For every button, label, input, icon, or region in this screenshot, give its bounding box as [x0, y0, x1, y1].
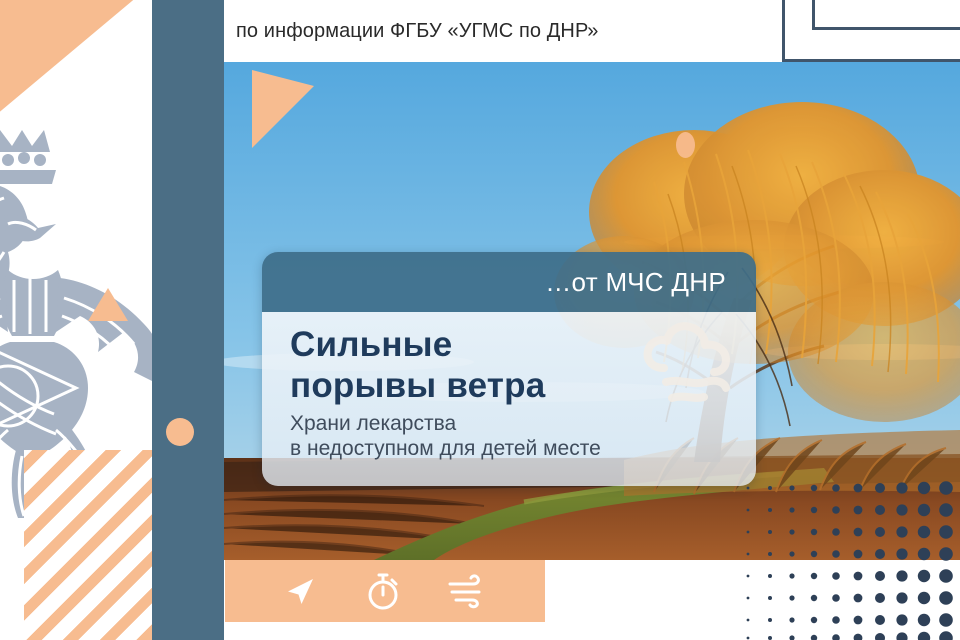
issuer-label: …от МЧС ДНР: [545, 267, 726, 298]
source-attribution-text: по информации ФГБУ «УГМС по ДНР»: [236, 20, 599, 43]
emblem-orange-triangle: [88, 288, 128, 321]
safety-advice: Храни лекарства в недоступном для детей …: [290, 411, 756, 461]
safety-advice-line2: в недоступном для детей месте: [290, 436, 756, 461]
slate-vertical-bar: [152, 0, 224, 640]
corner-frame-inner: [812, 0, 960, 30]
poster-canvas: по информации ФГБУ «УГМС по ДНР»: [0, 0, 960, 640]
stopwatch-icon[interactable]: [363, 570, 403, 612]
photo-orange-triangle: [252, 70, 314, 148]
cloud-wind-icon: [636, 320, 740, 416]
photo-orange-oval: [676, 132, 695, 158]
card-header: …от МЧС ДНР: [262, 252, 756, 312]
wind-icon[interactable]: [446, 571, 490, 611]
weather-warning-card: …от МЧС ДНР Сильные порывы ветра Храни л…: [262, 252, 756, 486]
safety-icon-bar: [225, 560, 545, 622]
navigation-arrow-icon[interactable]: [280, 571, 320, 611]
orange-corner-triangle: [0, 0, 138, 120]
orange-dot-accent: [166, 418, 194, 446]
card-body: Сильные порывы ветра Храни лекарства в н…: [262, 312, 756, 486]
orange-diagonal-stripes: [24, 450, 152, 640]
left-decor-panel: [0, 0, 152, 640]
